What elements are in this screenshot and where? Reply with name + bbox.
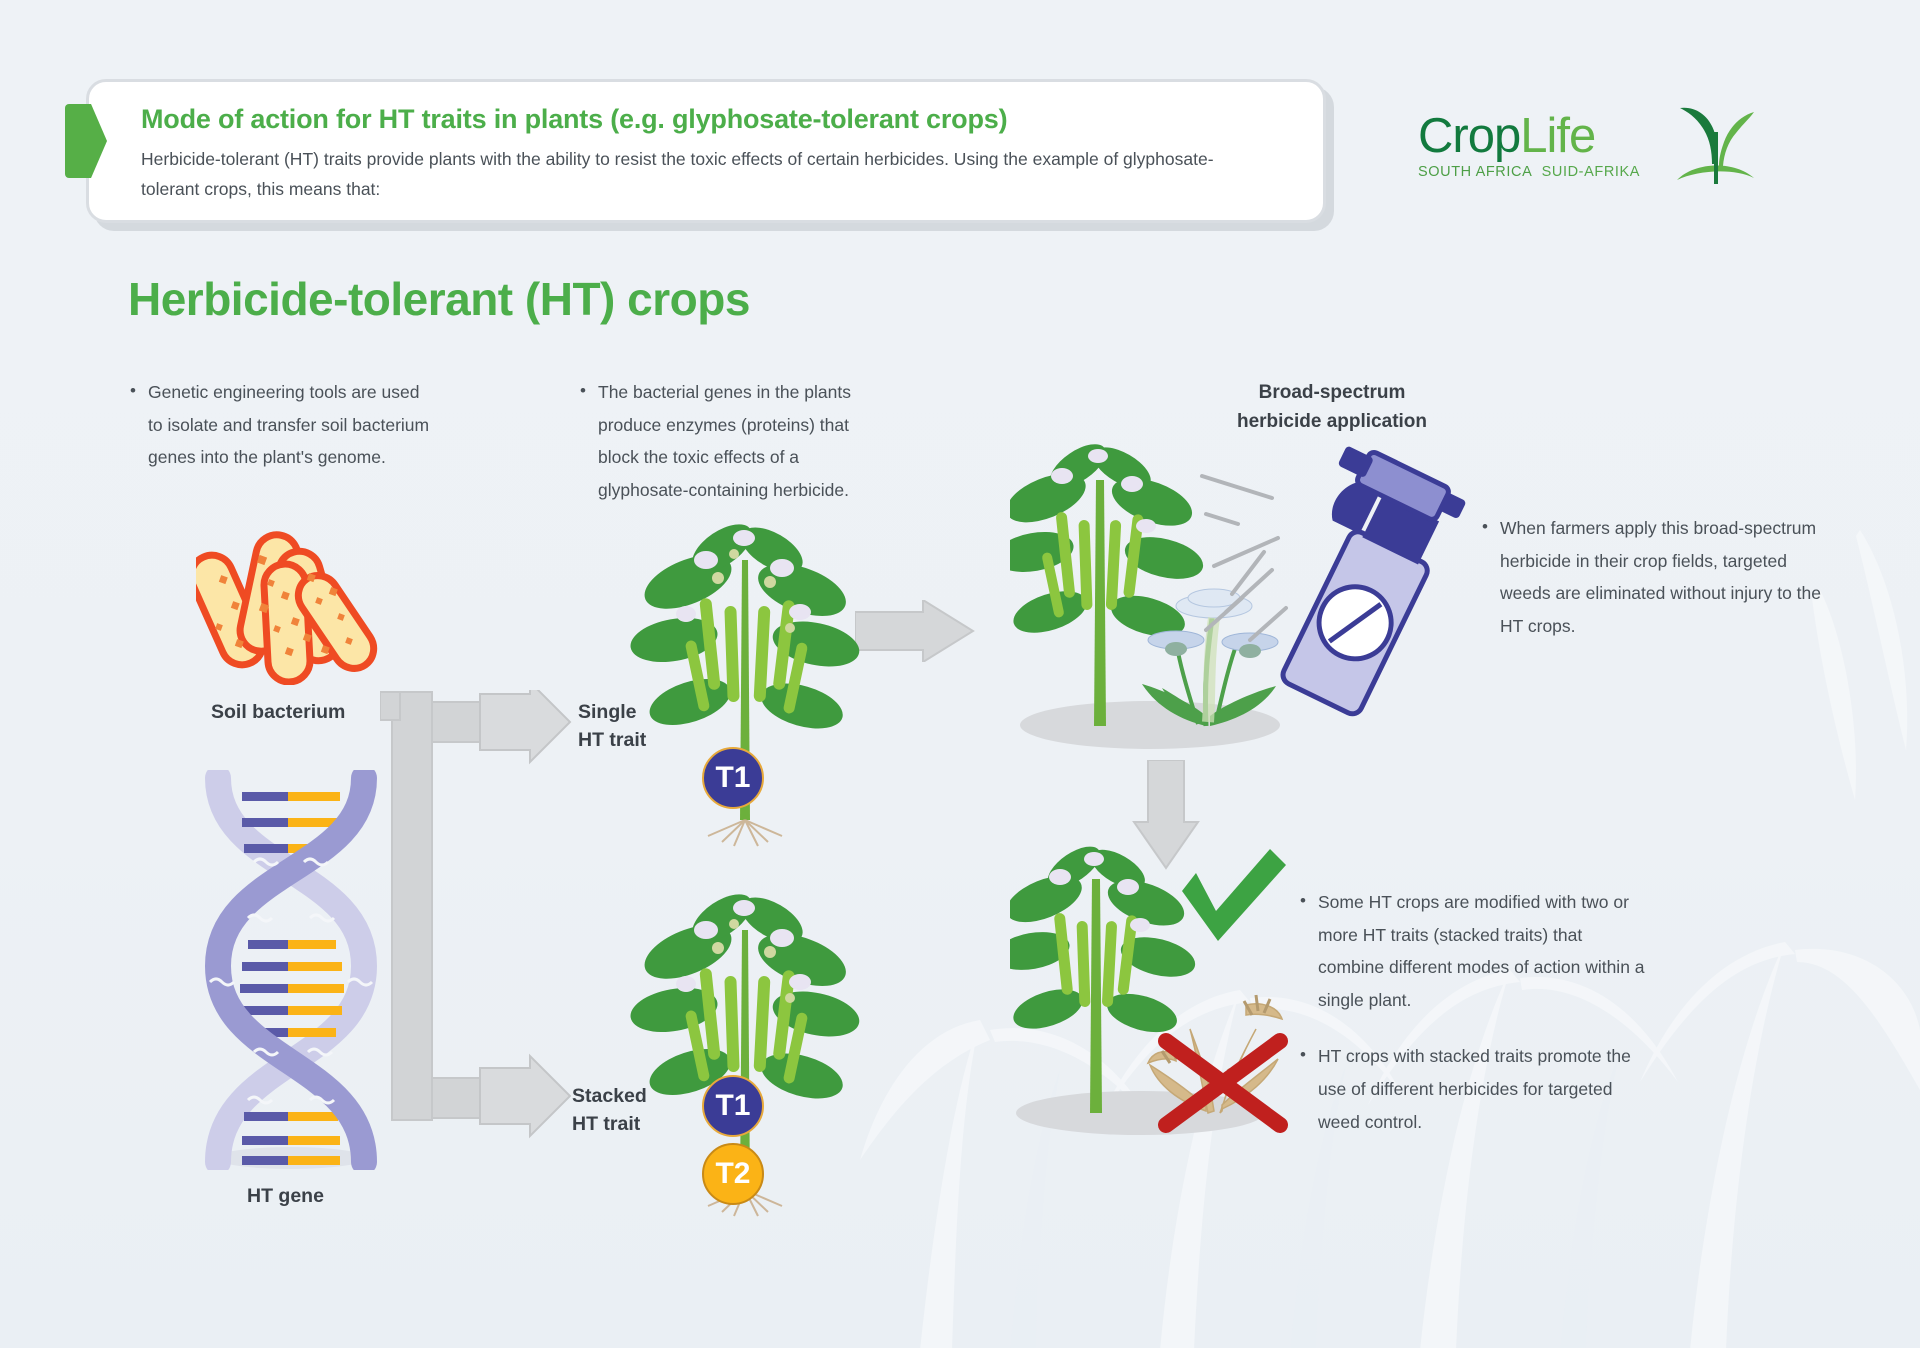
bullet-block-genetic-engineering: Genetic engineering tools are used to is… bbox=[130, 376, 430, 474]
croplife-logo: CropLife SOUTH AFRICA SUID-AFRIKA bbox=[1418, 110, 1758, 200]
bullet-block-bacterial-genes: The bacterial genes in the plants produc… bbox=[580, 376, 880, 506]
dna-helix-icon bbox=[196, 770, 386, 1170]
bullet-item: When farmers apply this broad-spectrum h… bbox=[1482, 512, 1832, 642]
section-heading-broad-spectrum: Broad-spectrum herbicide application bbox=[1222, 378, 1442, 436]
trait-badge-t1: T1 bbox=[702, 1075, 764, 1137]
bullet-item: Genetic engineering tools are used to is… bbox=[130, 376, 430, 474]
page-title: Herbicide-tolerant (HT) crops bbox=[128, 272, 750, 326]
trait-badge-t1: T1 bbox=[702, 747, 764, 809]
label-ht-gene: HT gene bbox=[247, 1182, 324, 1210]
logo-crop-text: Crop bbox=[1418, 109, 1520, 163]
callout-green-tab-icon bbox=[65, 104, 107, 178]
arrow-right-icon bbox=[855, 600, 975, 662]
callout-body: Herbicide-tolerant (HT) traits provide p… bbox=[141, 144, 1271, 204]
header-callout: Mode of action for HT traits in plants (… bbox=[86, 79, 1326, 231]
logo-sub-afrikaans: SUID-AFRIKA bbox=[1542, 164, 1640, 180]
seedling-sprout-icon bbox=[1674, 102, 1758, 188]
logo-sub-sa: SOUTH AFRICA bbox=[1418, 164, 1532, 180]
logo-life-text: Life bbox=[1520, 109, 1595, 163]
trait-badge-t2: T2 bbox=[702, 1143, 764, 1205]
result-scene bbox=[1010, 845, 1360, 1145]
bacteria-icon bbox=[196, 530, 386, 685]
connector-bracket-arrows bbox=[380, 690, 595, 1140]
callout-title: Mode of action for HT traits in plants (… bbox=[141, 104, 1281, 135]
label-soil-bacterium: Soil bacterium bbox=[211, 698, 345, 726]
callout-box: Mode of action for HT traits in plants (… bbox=[86, 79, 1326, 223]
bullet-item: The bacterial genes in the plants produc… bbox=[580, 376, 880, 506]
infographic-page: Mode of action for HT traits in plants (… bbox=[0, 0, 1920, 1348]
herbicide-spray-scene bbox=[1010, 440, 1470, 760]
bullet-block-farmer-application: When farmers apply this broad-spectrum h… bbox=[1482, 512, 1832, 642]
